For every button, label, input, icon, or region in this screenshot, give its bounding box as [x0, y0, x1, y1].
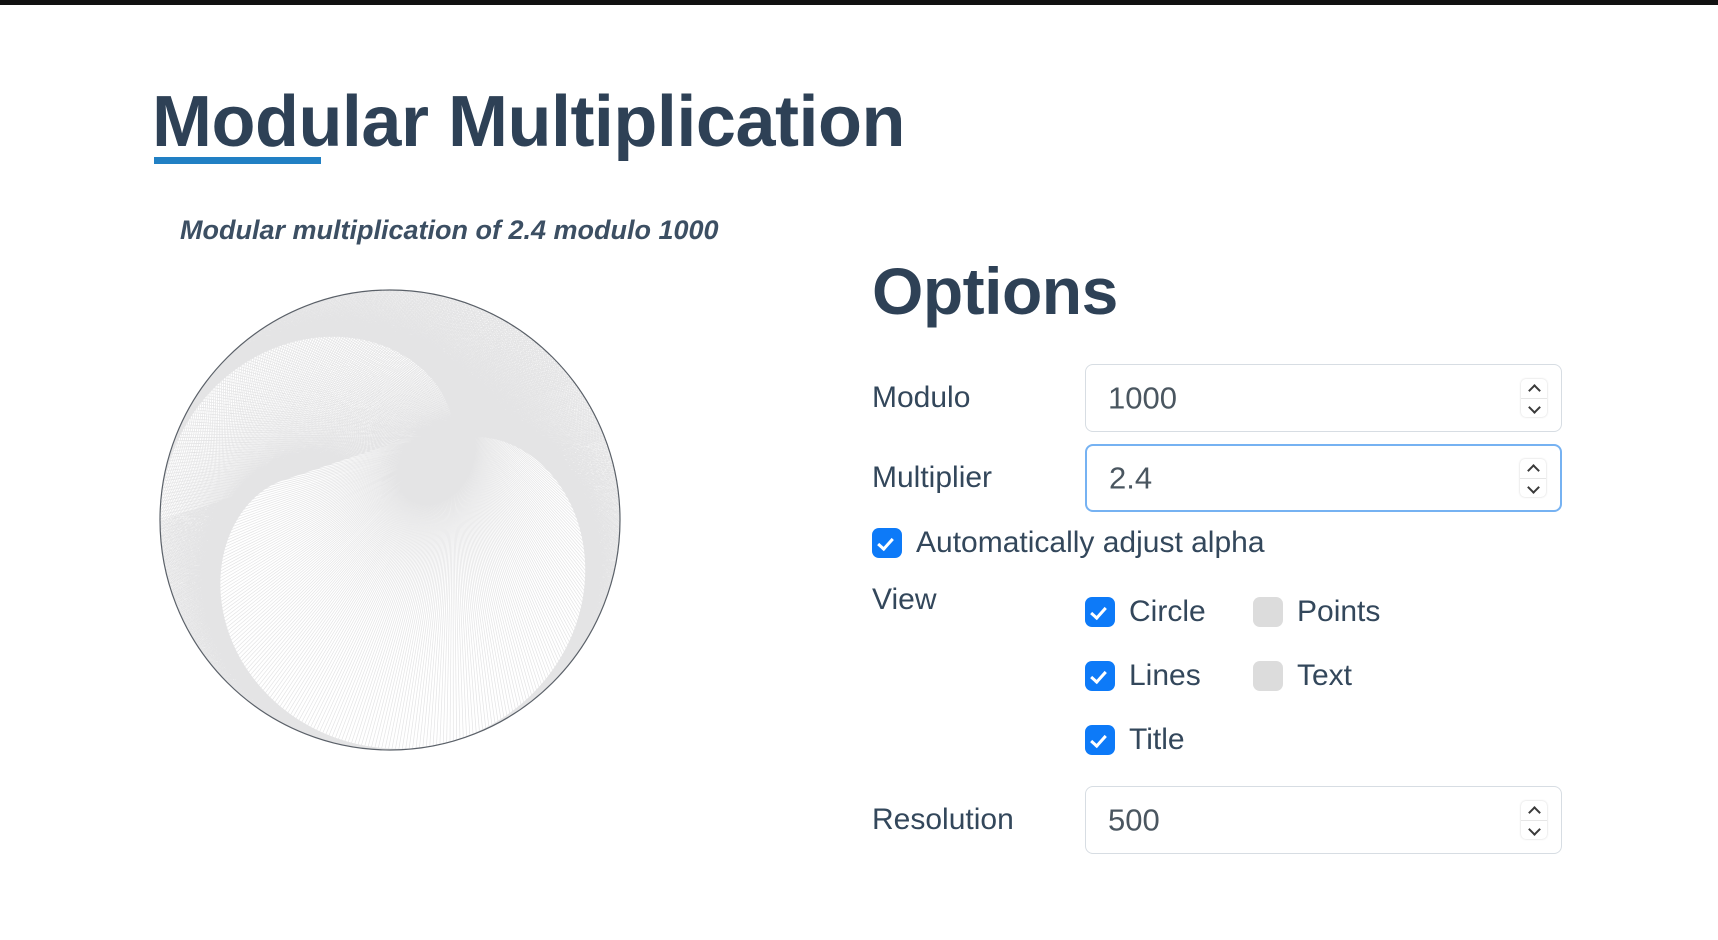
chevron-down-icon — [1529, 404, 1540, 411]
options-heading: Options — [872, 258, 1632, 324]
view-checkbox-grid: Circle Points Lines Text — [1085, 580, 1453, 772]
view-row-2: Lines Text — [1085, 644, 1453, 708]
multiplier-stepper[interactable] — [1520, 459, 1546, 497]
lines-label: Lines — [1129, 661, 1201, 691]
chevron-up-icon — [1529, 807, 1540, 814]
circle-checkbox[interactable] — [1085, 597, 1115, 627]
circle-label: Circle — [1129, 597, 1206, 627]
modulo-stepper-up[interactable] — [1521, 379, 1547, 399]
chord-path — [160, 290, 620, 750]
chevron-down-icon — [1529, 826, 1540, 833]
page-title: Modular Multiplication — [152, 86, 905, 159]
chevron-up-icon — [1529, 385, 1540, 392]
modular-multiplication-plot — [150, 260, 810, 780]
view-option-title[interactable]: Title — [1085, 725, 1253, 755]
field-row-multiplier: Multiplier 2.4 — [872, 444, 1632, 512]
options-panel: Options Modulo 1000 Multiplier 2.4 — [872, 258, 1632, 866]
chevron-up-icon — [1528, 465, 1539, 472]
multiplier-input[interactable]: 2.4 — [1085, 444, 1562, 512]
title-label: Title — [1129, 725, 1185, 755]
chord-lines-group — [160, 290, 620, 750]
resolution-value: 500 — [1108, 805, 1160, 836]
auto-alpha-checkbox[interactable] — [872, 528, 902, 558]
view-block: View Circle Points Lines — [872, 580, 1632, 772]
points-checkbox[interactable] — [1253, 597, 1283, 627]
resolution-stepper-up[interactable] — [1521, 801, 1547, 821]
title-checkbox[interactable] — [1085, 725, 1115, 755]
figure-container: Modular multiplication of 2.4 modulo 100… — [150, 205, 810, 805]
top-black-bar — [0, 0, 1718, 5]
modular-multiplication-svg — [150, 260, 810, 780]
modulo-value: 1000 — [1108, 383, 1177, 414]
modulo-label: Modulo — [872, 383, 1085, 413]
modulo-stepper[interactable] — [1521, 379, 1547, 417]
modulo-input[interactable]: 1000 — [1085, 364, 1562, 432]
view-option-lines[interactable]: Lines — [1085, 661, 1253, 691]
field-row-modulo: Modulo 1000 — [872, 364, 1632, 432]
multiplier-label: Multiplier — [872, 463, 1085, 493]
view-option-text[interactable]: Text — [1253, 661, 1453, 691]
figure-title: Modular multiplication of 2.4 modulo 100… — [180, 215, 719, 246]
modulo-stepper-down[interactable] — [1521, 399, 1547, 418]
title-underline-rule — [154, 157, 321, 164]
app-root: Modular Multiplication Modular multiplic… — [0, 0, 1718, 940]
points-label: Points — [1297, 597, 1380, 627]
resolution-label: Resolution — [872, 805, 1085, 835]
auto-alpha-label: Automatically adjust alpha — [916, 528, 1265, 558]
text-label: Text — [1297, 661, 1352, 691]
resolution-stepper-down[interactable] — [1521, 821, 1547, 840]
view-option-circle[interactable]: Circle — [1085, 597, 1253, 627]
view-row-3: Title — [1085, 708, 1453, 772]
auto-alpha-row[interactable]: Automatically adjust alpha — [872, 528, 1632, 558]
view-row-1: Circle Points — [1085, 580, 1453, 644]
text-checkbox[interactable] — [1253, 661, 1283, 691]
multiplier-stepper-up[interactable] — [1520, 459, 1546, 479]
multiplier-stepper-down[interactable] — [1520, 479, 1546, 498]
view-option-points[interactable]: Points — [1253, 597, 1453, 627]
field-row-resolution: Resolution 500 — [872, 786, 1632, 854]
resolution-input[interactable]: 500 — [1085, 786, 1562, 854]
chevron-down-icon — [1528, 484, 1539, 491]
lines-checkbox[interactable] — [1085, 661, 1115, 691]
multiplier-value: 2.4 — [1109, 463, 1152, 494]
view-label: View — [872, 580, 1085, 617]
resolution-stepper[interactable] — [1521, 801, 1547, 839]
